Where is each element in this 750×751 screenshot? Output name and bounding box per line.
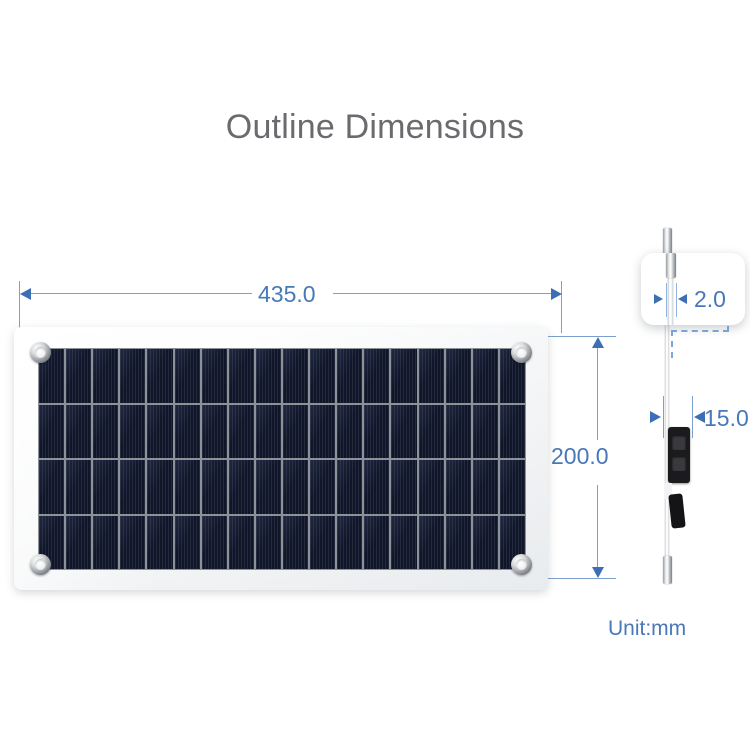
solar-cell: [66, 460, 91, 514]
dimension-height-label: 200.0: [551, 443, 609, 470]
connector-slot: [672, 456, 686, 471]
solar-panel: [14, 327, 548, 590]
extension-line-thickness-right: [676, 283, 677, 317]
solar-cell: [364, 405, 389, 459]
solar-cell: [256, 516, 281, 570]
dimension-line-width-right: [333, 293, 552, 294]
solar-cell: [93, 349, 118, 403]
callout-content: 2.0: [641, 253, 745, 325]
solar-cell: [337, 349, 362, 403]
solar-cell: [391, 349, 416, 403]
solar-cell: [283, 349, 308, 403]
solar-cell: [256, 405, 281, 459]
solar-cell: [202, 460, 227, 514]
arrow-left-icon: [678, 294, 687, 304]
solar-cell: [175, 349, 200, 403]
solar-cell: [500, 405, 525, 459]
leader-line-horizontal: [671, 330, 729, 332]
arrow-right-icon: [654, 294, 663, 304]
unit-label: Unit:mm: [608, 617, 686, 641]
arrow-left-icon: [20, 288, 31, 300]
solar-cell: [283, 516, 308, 570]
solar-cell: [391, 516, 416, 570]
solar-cell: [93, 516, 118, 570]
solar-cell: [120, 349, 145, 403]
extension-line-thickness-left: [666, 283, 667, 317]
solar-cell: [147, 405, 172, 459]
leader-line-vertical-left: [671, 330, 673, 358]
solar-cell: [446, 349, 471, 403]
solar-cell: [364, 460, 389, 514]
solar-cell: [256, 349, 281, 403]
grommet-hole-icon: [511, 342, 532, 363]
solar-cell: [93, 460, 118, 514]
solar-cell: [229, 349, 254, 403]
solar-cell: [175, 460, 200, 514]
solar-cell: [391, 460, 416, 514]
solar-cell: [310, 516, 335, 570]
solar-cell: [473, 516, 498, 570]
solar-cell: [175, 405, 200, 459]
extension-line-connector-right: [692, 396, 693, 438]
dimension-line-height-upper: [597, 344, 598, 440]
solar-cell: [175, 516, 200, 570]
arrow-down-icon: [592, 567, 604, 578]
solar-cell: [120, 405, 145, 459]
solar-cell: [419, 460, 444, 514]
solar-cell: [202, 516, 227, 570]
dimension-thickness-label: 2.0: [694, 286, 726, 313]
detail-callout-box: 2.0: [641, 253, 745, 325]
solar-cell: [310, 460, 335, 514]
solar-cell: [202, 349, 227, 403]
solar-cell: [229, 460, 254, 514]
solar-cell-grid: [38, 348, 526, 570]
solar-cell: [229, 405, 254, 459]
solar-cell: [473, 405, 498, 459]
solar-cell: [446, 405, 471, 459]
connector-slot: [672, 435, 686, 450]
solar-cell: [120, 460, 145, 514]
grommet-hole-icon: [511, 554, 532, 575]
outline-dimensions-figure: Outline Dimensions 435.0 200.0: [0, 0, 750, 751]
grommet-hole-icon: [30, 554, 51, 575]
solar-cell: [93, 405, 118, 459]
magnified-ferrule: [666, 253, 676, 278]
solar-cell: [419, 516, 444, 570]
solar-cell: [310, 405, 335, 459]
solar-cell: [39, 405, 64, 459]
connector-body: [668, 427, 690, 483]
arrow-up-icon: [592, 337, 604, 348]
solar-cell: [446, 460, 471, 514]
solar-cell: [364, 516, 389, 570]
solar-cell: [283, 460, 308, 514]
solar-cell: [500, 460, 525, 514]
solar-cell: [147, 516, 172, 570]
solar-cell: [419, 405, 444, 459]
arrow-right-icon: [650, 411, 661, 423]
dimension-line-width-left: [30, 293, 252, 294]
solar-cell: [66, 405, 91, 459]
solar-cell: [310, 349, 335, 403]
solar-cell: [147, 460, 172, 514]
connector-tail: [668, 493, 685, 528]
solar-cell: [39, 460, 64, 514]
solar-cell: [229, 516, 254, 570]
solar-cell: [337, 516, 362, 570]
dimension-width-label: 435.0: [258, 281, 316, 308]
solar-cell: [66, 516, 91, 570]
cable-ferrule-bottom: [663, 556, 672, 584]
cable-ferrule-top: [663, 228, 672, 256]
solar-cell: [120, 516, 145, 570]
solar-cell: [473, 349, 498, 403]
grommet-hole-icon: [30, 342, 51, 363]
solar-cell: [147, 349, 172, 403]
arrow-right-icon: [551, 288, 562, 300]
dimension-connector-label: 15.0: [704, 405, 749, 432]
solar-cell: [473, 460, 498, 514]
solar-cell: [283, 405, 308, 459]
solar-cell: [66, 349, 91, 403]
solar-cell: [202, 405, 227, 459]
extension-line-connector-left: [663, 396, 664, 438]
solar-cell: [391, 405, 416, 459]
dimension-line-height-lower: [597, 485, 598, 573]
solar-cell: [419, 349, 444, 403]
solar-cell: [256, 460, 281, 514]
solar-cell: [446, 516, 471, 570]
page-title: Outline Dimensions: [0, 108, 750, 147]
solar-cell: [337, 460, 362, 514]
solar-cell: [337, 405, 362, 459]
solar-cell: [364, 349, 389, 403]
